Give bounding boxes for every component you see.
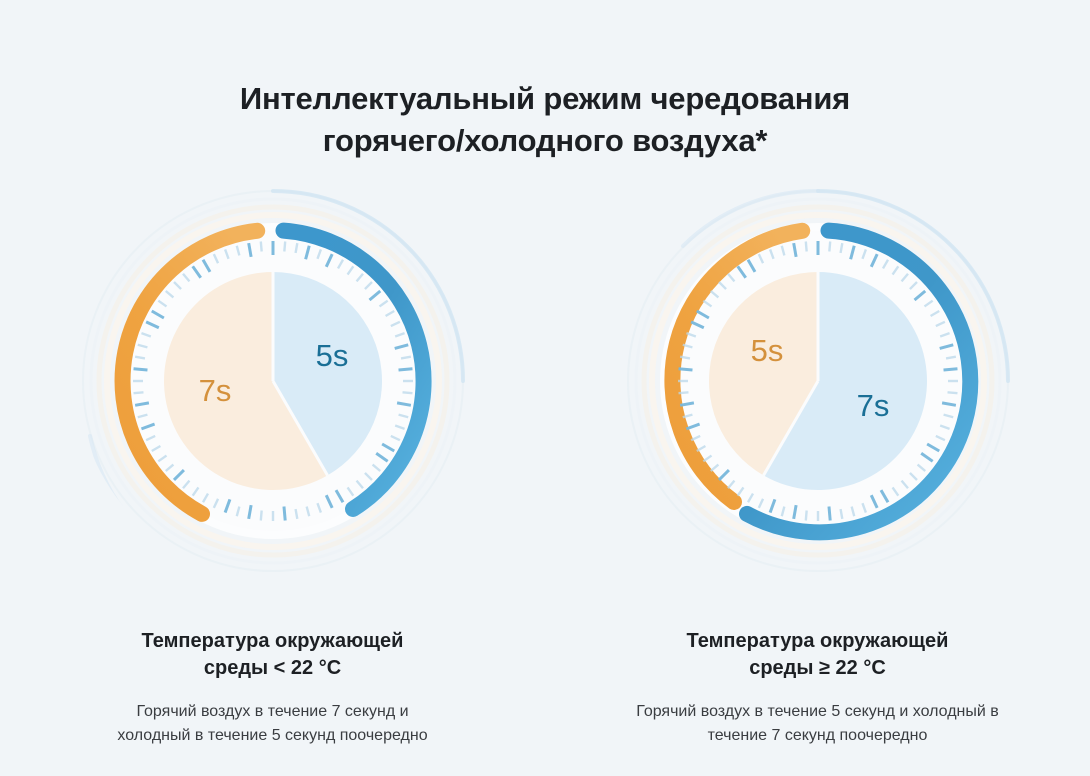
dial-tick xyxy=(678,369,692,370)
dial-tick xyxy=(680,357,690,359)
caption-right-heading: Температура окружающей среды ≥ 22 °C xyxy=(583,628,1053,682)
dial-right-svg: 5s 7s xyxy=(623,186,1013,576)
caption-left-heading-line-2: среды < 22 °C xyxy=(38,655,508,682)
caption-right: Температура окружающей среды ≥ 22 °C Гор… xyxy=(583,628,1053,748)
dial-tick xyxy=(260,511,261,521)
dial-tick xyxy=(401,357,411,359)
caption-right-heading-line-1: Температура окружающей xyxy=(583,628,1053,655)
dial-tick xyxy=(943,369,957,370)
caption-right-sub: Горячий воздух в течение 5 секунд и холо… xyxy=(618,700,1018,748)
caption-left-heading: Температура окружающей среды < 22 °C xyxy=(38,628,508,682)
dial-tick xyxy=(829,242,830,252)
dial-tick xyxy=(805,242,806,252)
dial-tick xyxy=(260,242,261,252)
dial-tick xyxy=(402,392,412,393)
page-title-line-2: горячего/холодного воздуха* xyxy=(0,120,1090,162)
caption-left: Температура окружающей среды < 22 °C Гор… xyxy=(38,628,508,748)
dial-tick xyxy=(295,243,297,253)
hot-seconds-label: 7s xyxy=(198,373,231,408)
cold-seconds-label: 7s xyxy=(856,388,889,423)
panel-ambient-below-22: 7s 5s Температура окружающей среды < 22 … xyxy=(0,186,545,748)
caption-left-heading-line-1: Температура окружающей xyxy=(38,628,508,655)
dial-tick xyxy=(946,357,956,359)
dial-tick xyxy=(284,242,285,252)
page-title: Интеллектуальный режим чередования горяч… xyxy=(0,78,1090,162)
dial-left: 7s 5s xyxy=(78,186,468,576)
hot-seconds-label: 5s xyxy=(750,333,783,368)
panel-ambient-at-or-above-22: 5s 7s Температура окружающей среды ≥ 22 … xyxy=(545,186,1090,748)
dial-tick xyxy=(840,243,842,253)
dial-sectors xyxy=(708,272,926,490)
dial-tick xyxy=(398,369,412,370)
dial-tick xyxy=(135,357,145,359)
cold-seconds-label: 5s xyxy=(315,338,348,373)
dial-tick xyxy=(947,392,957,393)
dial-tick xyxy=(840,509,842,519)
page-title-line-1: Интеллектуальный режим чередования xyxy=(0,78,1090,120)
caption-right-heading-line-2: среды ≥ 22 °C xyxy=(583,655,1053,682)
dial-tick xyxy=(828,507,829,521)
page-root: Интеллектуальный режим чередования горяч… xyxy=(0,0,1090,776)
dial-tick xyxy=(295,509,297,519)
dial-left-svg: 7s 5s xyxy=(78,186,468,576)
dial-panels: 7s 5s Температура окружающей среды < 22 … xyxy=(0,186,1090,748)
dial-tick xyxy=(283,507,284,521)
caption-left-sub: Горячий воздух в течение 7 секунд и холо… xyxy=(108,700,438,748)
dial-right: 5s 7s xyxy=(623,186,1013,576)
dial-tick xyxy=(678,392,688,393)
dial-tick xyxy=(133,392,143,393)
dial-sectors xyxy=(164,272,382,490)
dial-tick xyxy=(133,369,147,370)
dial-tick xyxy=(805,511,806,521)
